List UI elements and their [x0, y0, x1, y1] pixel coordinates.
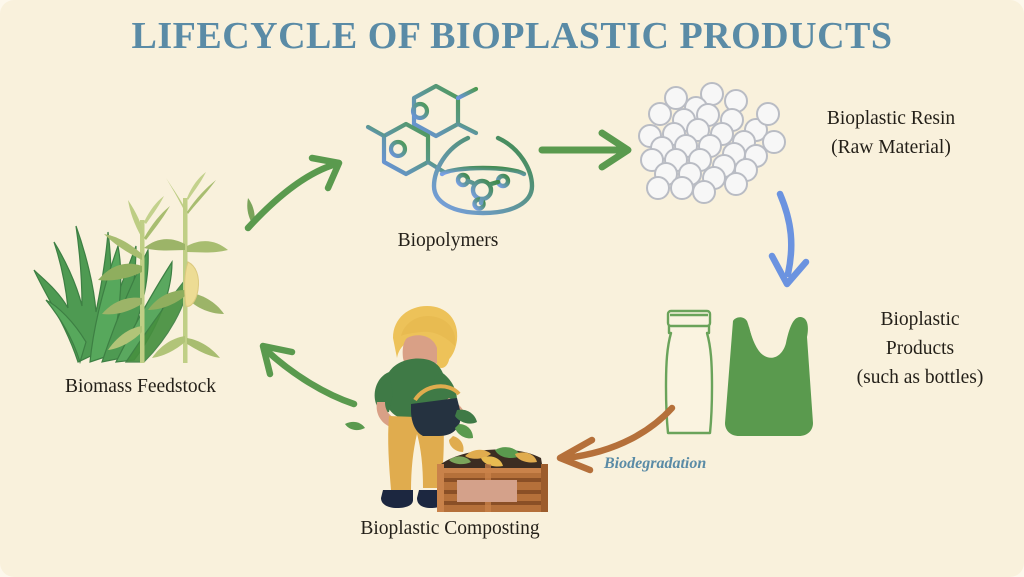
molecule-hexagons-and-flask-icon — [358, 82, 538, 217]
resin-pellet-beads-cluster — [636, 84, 786, 202]
algae-and-corn-plants-illustration — [20, 150, 260, 365]
arrow-resin-to-products — [758, 188, 848, 303]
infographic-canvas: LIFECYCLE OF BIOPLASTIC PRODUCTS — [0, 0, 1024, 577]
node-bioplastic-composting: Bioplastic Composting — [345, 302, 550, 514]
label-bioplastic-products-line1: Bioplastic — [810, 305, 1024, 334]
arrow-composting-to-biomass — [248, 328, 363, 413]
label-bioplastic-resin: Bioplastic Resin (Raw Material) — [786, 104, 996, 162]
node-biomass-feedstock: Biomass Feedstock — [20, 150, 260, 365]
arrow-biopolymers-to-resin — [538, 128, 638, 174]
label-bioplastic-composting: Bioplastic Composting — [330, 514, 570, 543]
label-bioplastic-resin-line2: (Raw Material) — [786, 133, 996, 162]
label-biopolymers: Biopolymers — [350, 226, 546, 255]
label-bioplastic-products: Bioplastic Products (such as bottles) — [810, 305, 1024, 392]
label-biodegradation: Biodegradation — [604, 455, 706, 473]
arrow-biomass-to-biopolymers — [240, 148, 360, 238]
label-bioplastic-resin-line1: Bioplastic Resin — [786, 104, 996, 133]
label-bioplastic-products-line2: Products — [810, 334, 1024, 363]
person-emptying-scraps-into-compost-bin — [345, 302, 550, 514]
label-biomass-feedstock: Biomass Feedstock — [8, 372, 273, 401]
node-bioplastic-resin: Bioplastic Resin (Raw Material) — [636, 84, 786, 202]
label-bioplastic-products-line3: (such as bottles) — [810, 363, 1024, 392]
page-title: LIFECYCLE OF BIOPLASTIC PRODUCTS — [0, 14, 1024, 58]
node-biopolymers: Biopolymers — [358, 82, 538, 217]
